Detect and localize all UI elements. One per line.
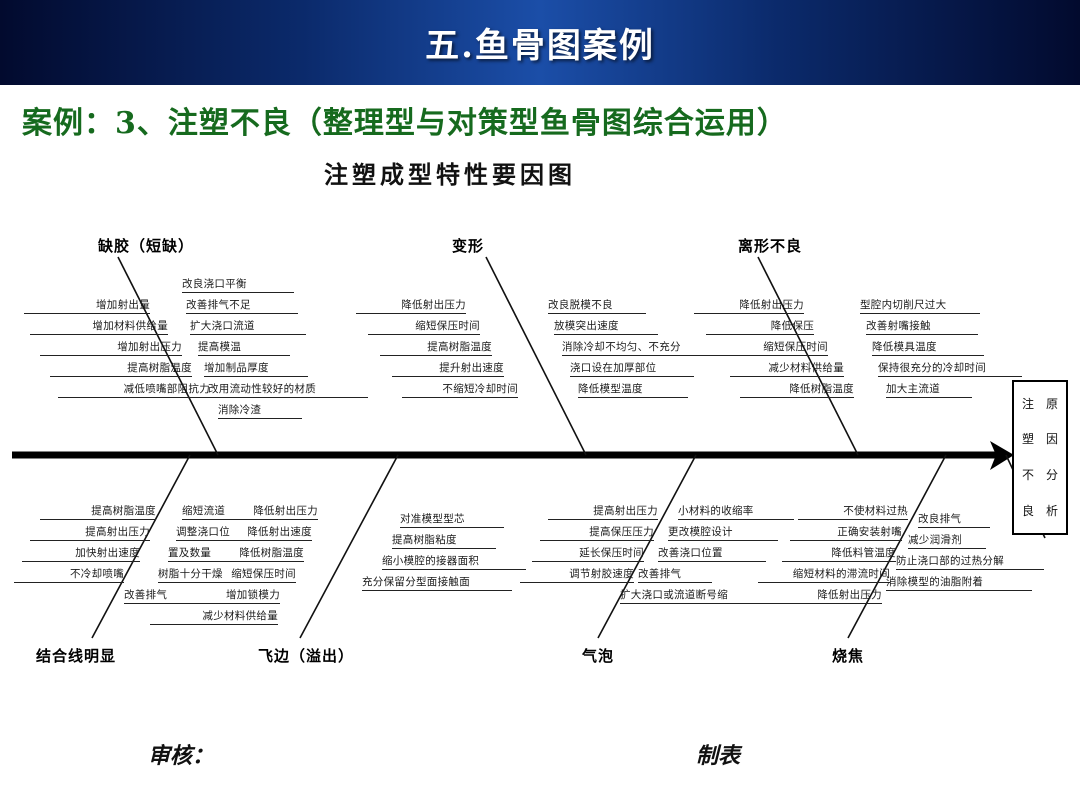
cause-item: 扩大浇口或流道断号缩	[620, 589, 784, 604]
cause-item: 降低树脂温度	[186, 547, 304, 562]
cause-item: 缩小模腔的接器面积	[382, 555, 526, 570]
branch-label-jie-he-xian: 结合线明显	[36, 645, 116, 666]
cause-item: 改善排气	[638, 568, 712, 583]
cause-item: 改善射嘴接触	[866, 320, 978, 335]
cause-item: 防止浇口部的过热分解	[896, 555, 1044, 570]
head-line-2-ch-2: 因	[1046, 430, 1058, 449]
cause-item: 增加材料供给量	[30, 320, 168, 335]
cause-item: 缩短材料的滞流时间	[758, 568, 890, 583]
cause-item: 对准模型型芯	[400, 513, 504, 528]
cause-item: 降低射出压力	[202, 505, 318, 520]
cause-item: 改善排气不足	[186, 299, 298, 314]
bone-fei-bian	[300, 455, 398, 638]
cause-item: 扩大浇口流道	[190, 320, 306, 335]
cause-item: 改良脱模不良	[548, 299, 646, 314]
cause-item: 提升射出速度	[392, 362, 504, 377]
cause-item: 降低射出压力	[356, 299, 466, 314]
cause-item: 缩短保压时间	[368, 320, 480, 335]
cause-item: 浇口设在加厚部位	[570, 362, 694, 377]
cause-item: 加大主流道	[886, 383, 972, 398]
cause-item: 提高树脂温度	[50, 362, 192, 377]
cause-item: 提高保压压力	[540, 526, 654, 541]
branch-label-shao-jiao: 烧焦	[832, 645, 864, 666]
cause-item: 放模突出速度	[554, 320, 658, 335]
spine-arrow-head	[990, 441, 1014, 470]
title-bar: 五.鱼骨图案例	[0, 0, 1080, 85]
cause-item: 增加制品厚度	[204, 362, 308, 377]
cause-item: 减少材料供给量	[730, 362, 844, 377]
branch-label-que-jiao: 缺胶（短缺）	[98, 235, 194, 256]
cause-item: 改良排气	[918, 513, 990, 528]
footer-author-label: 制表	[696, 738, 740, 770]
cause-item: 降低料管温度	[782, 547, 896, 562]
branch-label-qi-pao: 气泡	[582, 645, 614, 666]
page-title: 五.鱼骨图案例	[425, 18, 655, 67]
cause-item: 提高射出压力	[30, 526, 150, 541]
branch-label-fei-bian: 飞边（溢出）	[258, 645, 354, 666]
subtitle-text: 案例：3、注塑不良（整理型与对策型鱼骨图综合运用）	[22, 98, 1062, 142]
cause-item: 小材料的收缩率	[678, 505, 794, 520]
bone-bian-xing	[486, 257, 586, 455]
spine-group	[12, 441, 1014, 470]
head-line-1-ch-3: 不	[1022, 466, 1034, 485]
cause-item: 降低射出压力	[764, 589, 882, 604]
cause-item: 减低喷嘴部阻抗力	[58, 383, 210, 398]
cause-item: 减少材料供给量	[150, 610, 278, 625]
head-col-right: 原 因 分 析	[1046, 386, 1058, 529]
diagram-title: 注塑成型特性要因图	[0, 155, 900, 190]
cause-item: 提高树脂粘度	[392, 534, 496, 549]
head-line-1-ch-4: 良	[1022, 502, 1034, 521]
cause-item: 提高树脂温度	[40, 505, 156, 520]
cause-item: 充分保留分型面接触面	[362, 576, 512, 591]
cause-item: 降低射出速度	[194, 526, 312, 541]
cause-item: 缩短保压时间	[718, 341, 828, 356]
cause-item: 不冷却喷嘴	[14, 568, 124, 583]
head-line-1-ch-1: 注	[1022, 395, 1034, 414]
cause-item: 改善浇口位置	[658, 547, 766, 562]
cause-item: 消除模型的油脂附着	[886, 576, 1032, 591]
cause-item: 保持很充分的冷却时间	[878, 362, 1022, 377]
cause-item: 提高模温	[198, 341, 290, 356]
effect-head-box: 注 塑 不 良 原 因 分 析	[1012, 380, 1068, 535]
cause-item: 改良浇口平衡	[182, 278, 294, 293]
cause-item: 提高射出压力	[548, 505, 658, 520]
cause-item: 减少润滑剂	[908, 534, 986, 549]
cause-item: 消除冷却不均匀、不充分	[562, 341, 730, 356]
cause-item: 降低树脂温度	[740, 383, 854, 398]
head-line-2-ch-1: 原	[1046, 395, 1058, 414]
footer-reviewer-label: 审核：	[148, 738, 214, 770]
cause-item: 降低射出压力	[694, 299, 804, 314]
head-line-1-ch-2: 塑	[1022, 430, 1034, 449]
cause-item: 增加射出压力	[40, 341, 182, 356]
cause-item: 缩短保压时间	[178, 568, 296, 583]
cause-item: 正确安装射嘴	[790, 526, 902, 541]
cause-item: 改用流动性较好的材质	[208, 383, 368, 398]
cause-item: 不缩短冷却时间	[402, 383, 518, 398]
cause-item: 消除冷渣	[218, 404, 302, 419]
cause-item: 降低模型温度	[578, 383, 688, 398]
cause-item: 延长保压时间	[532, 547, 644, 562]
branch-label-bian-xing: 变形	[452, 235, 484, 256]
cause-item: 降低模具温度	[872, 341, 984, 356]
cause-item: 提高树脂温度	[380, 341, 492, 356]
cause-item: 增加锁模力	[168, 589, 280, 604]
head-col-left: 注 塑 不 良	[1022, 386, 1034, 529]
cause-item: 增加射出量	[24, 299, 150, 314]
cause-item: 不使材料过热	[798, 505, 908, 520]
cause-item: 加快射出速度	[22, 547, 140, 562]
cause-item: 更改模腔设计	[668, 526, 778, 541]
head-line-2-ch-3: 分	[1046, 466, 1058, 485]
cause-item: 调节射胶速度	[520, 568, 634, 583]
cause-item: 型腔内切削尺过大	[860, 299, 980, 314]
cause-item: 降低保压	[706, 320, 814, 335]
head-line-2-ch-4: 析	[1046, 502, 1058, 521]
bone-li-xing-bu-liang	[758, 257, 858, 455]
branch-label-li-xing-bu-liang: 离形不良	[738, 235, 802, 256]
